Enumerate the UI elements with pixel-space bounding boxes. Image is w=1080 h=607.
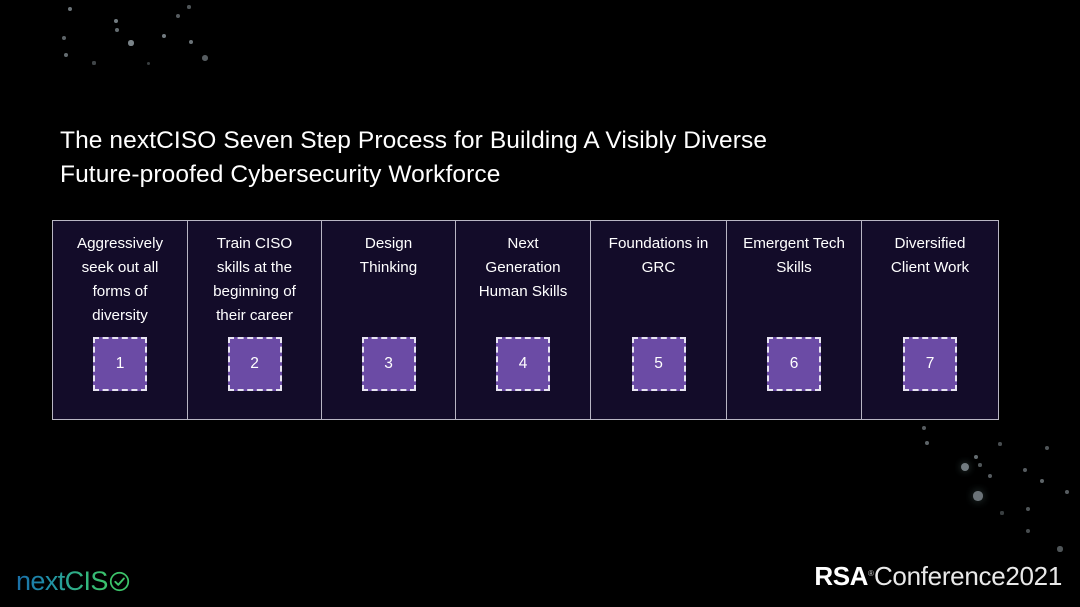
rsa-conference-logo: RSA ® Conference2021 [814,563,1062,589]
particle-dot [1040,479,1045,484]
step-number-badge: 3 [362,337,416,391]
nextciso-wordmark: nextCIS [16,568,108,595]
check-circle-icon [109,571,130,592]
step-number: 7 [926,356,935,372]
step-label: Emergent Tech Skills [737,232,851,280]
particle-dot [1026,507,1030,511]
slide-canvas: The nextCISO Seven Step Process for Buil… [0,0,1080,607]
particle-dot [128,40,133,45]
conference-year-text: Conference2021 [874,563,1062,589]
particle-dot [176,14,180,18]
particle-dot [978,463,982,467]
step-number: 1 [116,356,125,372]
step-label: Foundations in GRC [603,232,715,280]
particle-dot [92,61,95,64]
process-step-6[interactable]: Emergent Tech Skills 6 [727,221,862,419]
step-number: 2 [250,356,259,372]
step-number-badge: 5 [632,337,686,391]
particle-dot [64,53,69,58]
particle-dot [988,474,992,478]
step-number-badge: 6 [767,337,821,391]
particle-dot [961,463,969,471]
page-title: The nextCISO Seven Step Process for Buil… [60,124,860,192]
particle-dot [1065,490,1070,495]
step-label: Aggressively seek out all forms of diver… [71,232,169,328]
process-step-7[interactable]: Diversified Client Work 7 [862,221,998,419]
step-number-badge: 1 [93,337,147,391]
process-step-2[interactable]: Train CISO skills at the beginning of th… [188,221,322,419]
rsa-wordmark: RSA [814,563,868,589]
step-label: Train CISO skills at the beginning of th… [207,232,302,328]
particle-dot [114,19,118,23]
step-number-badge: 2 [228,337,282,391]
particle-dot [147,62,150,65]
particle-dot [1000,511,1003,514]
particle-dot [922,426,926,430]
particle-dot [62,36,66,40]
particle-dot [1045,446,1049,450]
step-number: 3 [384,356,393,372]
step-label: Diversified Client Work [885,232,975,280]
particle-dot [1026,529,1030,533]
process-step-1[interactable]: Aggressively seek out all forms of diver… [53,221,188,419]
particle-dot [115,28,119,32]
particle-dot [162,34,167,39]
process-step-table: Aggressively seek out all forms of diver… [52,220,999,420]
particle-dot [973,491,982,500]
particle-dot [974,455,978,459]
particle-dot [1023,468,1027,472]
step-label: Next Generation Human Skills [473,232,574,304]
particle-dot [998,442,1002,446]
step-label: Design Thinking [354,232,423,280]
step-number: 6 [790,356,799,372]
process-step-5[interactable]: Foundations in GRC 5 [591,221,727,419]
particle-dot [189,40,194,45]
step-number: 5 [654,356,663,372]
particle-dot [187,5,191,9]
registered-mark: ® [868,570,874,578]
particle-dot [202,55,208,61]
step-number-badge: 4 [496,337,550,391]
process-step-3[interactable]: Design Thinking 3 [322,221,456,419]
step-number: 4 [519,356,528,372]
particle-dot [68,7,72,11]
particle-dot [925,441,929,445]
process-step-4[interactable]: Next Generation Human Skills 4 [456,221,591,419]
particle-dot [1057,546,1062,551]
nextciso-logo: nextCIS [16,566,130,596]
step-number-badge: 7 [903,337,957,391]
